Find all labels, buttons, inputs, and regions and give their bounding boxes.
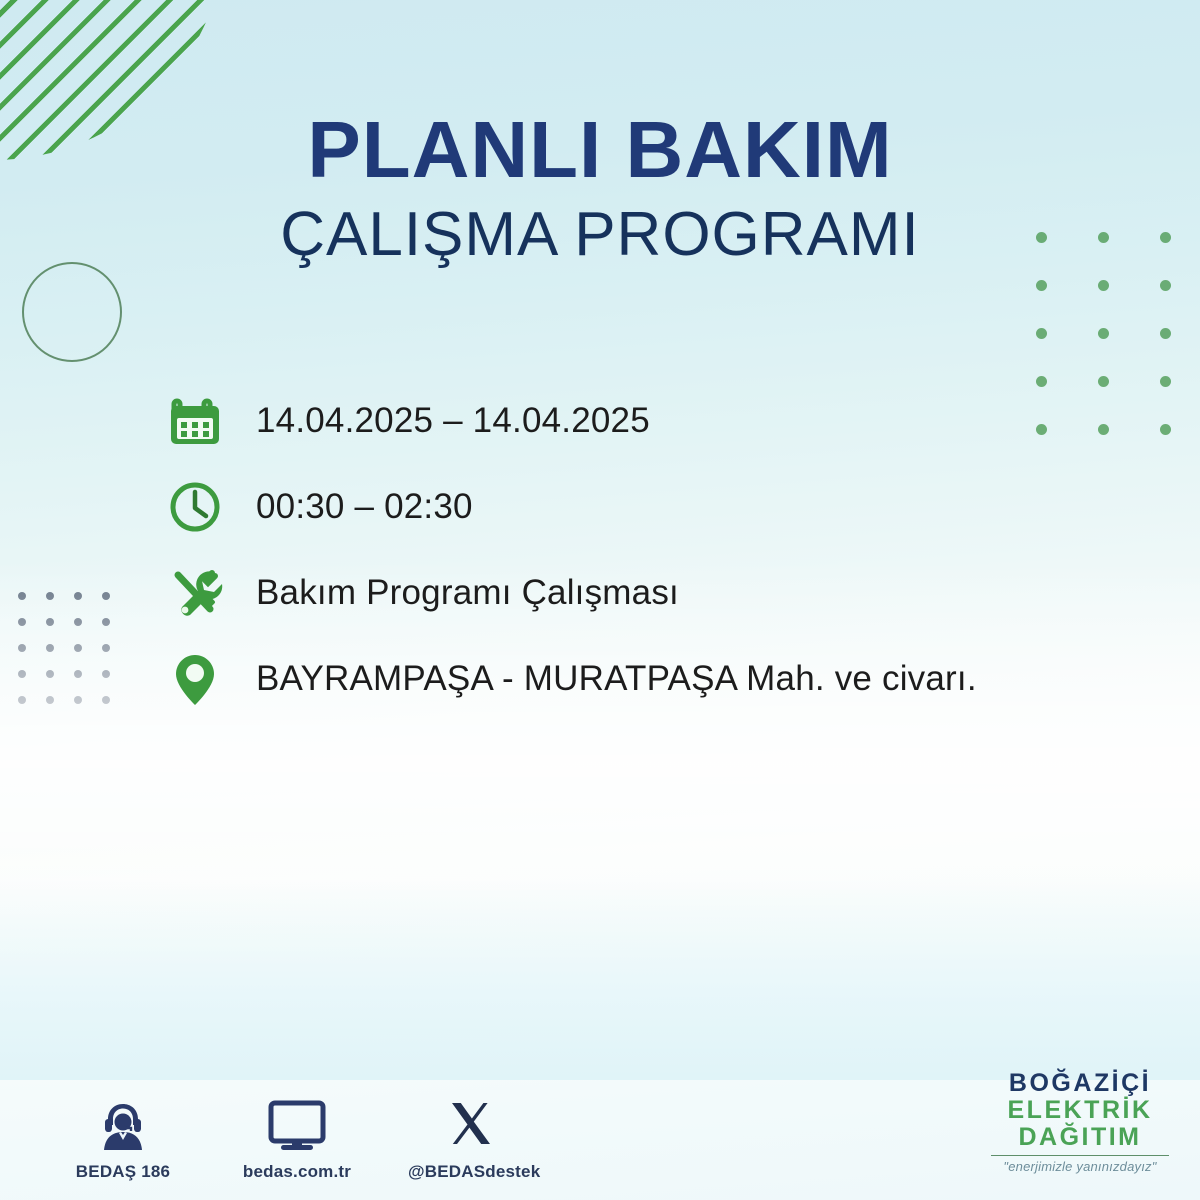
footer-item-website[interactable]: bedas.com.tr [234, 1092, 360, 1182]
title-main: PLANLI BAKIM [0, 108, 1200, 192]
footer-contact-bar: BEDAŞ 186 bedas.com.tr @BEDASdestek [60, 1092, 534, 1182]
dot [1036, 280, 1047, 291]
info-row-time: 00:30 – 02:30 [166, 464, 1126, 550]
dot [102, 618, 110, 626]
footer-label-phone: BEDAŞ 186 [60, 1162, 186, 1182]
title-subtitle: ÇALIŞMA PROGRAMI [0, 198, 1200, 272]
dot [18, 644, 26, 652]
dot [1160, 376, 1171, 387]
dot [102, 592, 110, 600]
dot [46, 644, 54, 652]
info-row-worktype-text: Bakım Programı Çalışması [228, 573, 679, 613]
footer-label-website: bedas.com.tr [234, 1162, 360, 1182]
location-pin-icon [166, 648, 228, 710]
poster-canvas: PLANLI BAKIM ÇALIŞMA PROGRAMI 14 [0, 0, 1200, 1200]
dot [1160, 424, 1171, 435]
logo-tagline: "enerjimizle yanınızdayız" [982, 1159, 1178, 1174]
dot [74, 696, 82, 704]
dot [1036, 328, 1047, 339]
bedas-logo: BOĞAZİÇİ ELEKTRİK DAĞITIM "enerjimizle y… [982, 1070, 1178, 1174]
info-row-date-text: 14.04.2025 – 14.04.2025 [228, 401, 650, 441]
page-title: PLANLI BAKIM ÇALIŞMA PROGRAMI [0, 108, 1200, 272]
dot [46, 670, 54, 678]
footer-item-phone[interactable]: BEDAŞ 186 [60, 1092, 186, 1182]
footer-item-social[interactable]: @BEDASdestek [408, 1092, 534, 1182]
x-twitter-icon [408, 1092, 534, 1154]
dot [102, 644, 110, 652]
circle-outline-decoration [22, 262, 122, 362]
dot [46, 592, 54, 600]
dot [102, 696, 110, 704]
dot [102, 670, 110, 678]
dot [18, 670, 26, 678]
dot [1160, 328, 1171, 339]
calendar-icon [166, 390, 228, 452]
dot [18, 592, 26, 600]
dot [1160, 280, 1171, 291]
dot [74, 644, 82, 652]
logo-line-dagitim: DAĞITIM [982, 1124, 1178, 1151]
call-center-headset-icon [60, 1092, 186, 1154]
dot [1098, 328, 1109, 339]
info-row-date: 14.04.2025 – 14.04.2025 [166, 378, 1126, 464]
footer-label-social: @BEDASdestek [408, 1162, 534, 1182]
background-light-sweep-lower [0, 880, 1200, 1080]
maintenance-info-list: 14.04.2025 – 14.04.2025 00:30 – 02:30 [166, 378, 1126, 722]
logo-divider [991, 1155, 1169, 1156]
info-row-time-text: 00:30 – 02:30 [228, 487, 473, 527]
clock-icon [166, 476, 228, 538]
logo-line-bogazici: BOĞAZİÇİ [982, 1070, 1178, 1097]
tools-icon [166, 562, 228, 624]
dot [74, 592, 82, 600]
dot [46, 618, 54, 626]
info-row-location: BAYRAMPAŞA - MURATPAŞA Mah. ve civarı. [166, 636, 1126, 722]
dot [1098, 280, 1109, 291]
dot [18, 696, 26, 704]
logo-line-elektrik: ELEKTRİK [982, 1097, 1178, 1124]
info-row-worktype: Bakım Programı Çalışması [166, 550, 1126, 636]
dot [74, 618, 82, 626]
dot [18, 618, 26, 626]
dot-grid-left-decoration [18, 592, 130, 722]
info-row-location-text: BAYRAMPAŞA - MURATPAŞA Mah. ve civarı. [228, 659, 977, 699]
dot [46, 696, 54, 704]
monitor-icon [234, 1092, 360, 1154]
dot [74, 670, 82, 678]
